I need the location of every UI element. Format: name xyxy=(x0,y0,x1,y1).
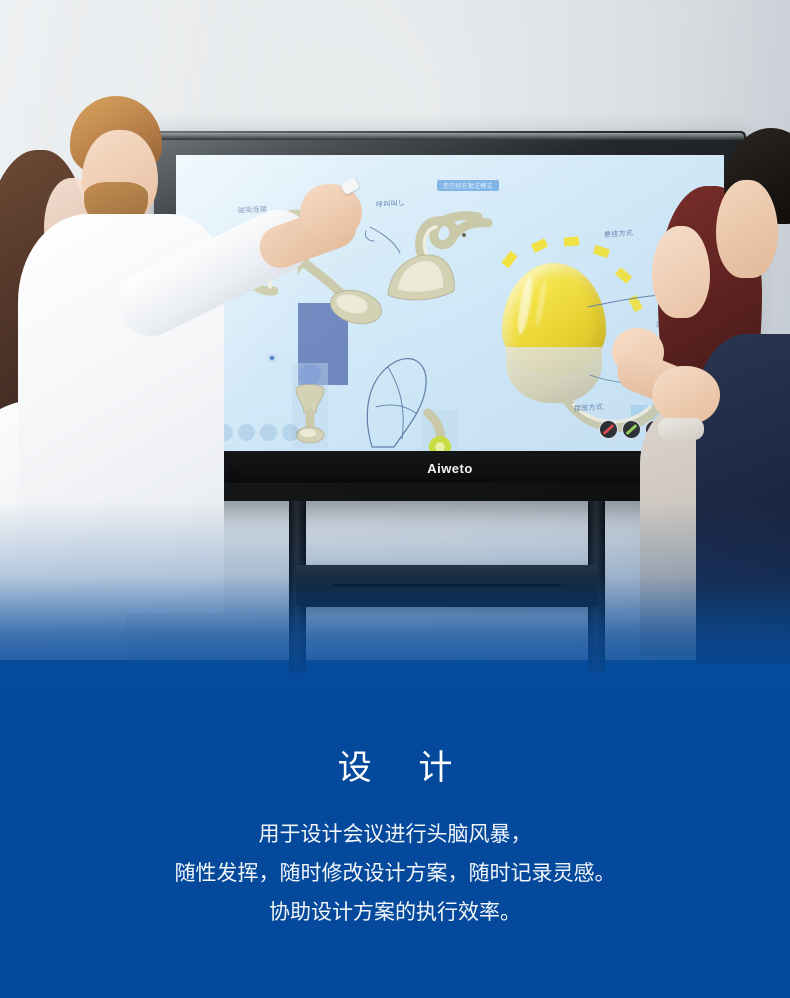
promo-line: 用于设计会议进行头脑风暴， xyxy=(0,815,790,854)
promo-title: 设 计 xyxy=(0,740,790,789)
product-feature-page: 您已经在批注模式 磁吸连接 xyxy=(0,0,790,998)
promo-line: 协助设计方案的执行效率。 xyxy=(0,893,790,932)
hand-with-stylus xyxy=(300,184,362,240)
wristband xyxy=(658,418,704,440)
promo-line: 随性发挥，随时修改设计方案，随时记录灵感。 xyxy=(0,854,790,893)
hand xyxy=(652,366,720,424)
face xyxy=(716,180,778,278)
photo-to-panel-fade xyxy=(0,500,790,700)
face xyxy=(652,226,710,318)
photo-scene: 您已经在批注模式 磁吸连接 xyxy=(0,0,790,700)
promo-description: 用于设计会议进行头脑风暴， 随性发挥，随时修改设计方案，随时记录灵感。 协助设计… xyxy=(0,815,790,932)
promo-panel: 设 计 用于设计会议进行头脑风暴， 随性发挥，随时修改设计方案，随时记录灵感。 … xyxy=(0,700,790,998)
brand-label: Aiweto xyxy=(427,461,473,476)
